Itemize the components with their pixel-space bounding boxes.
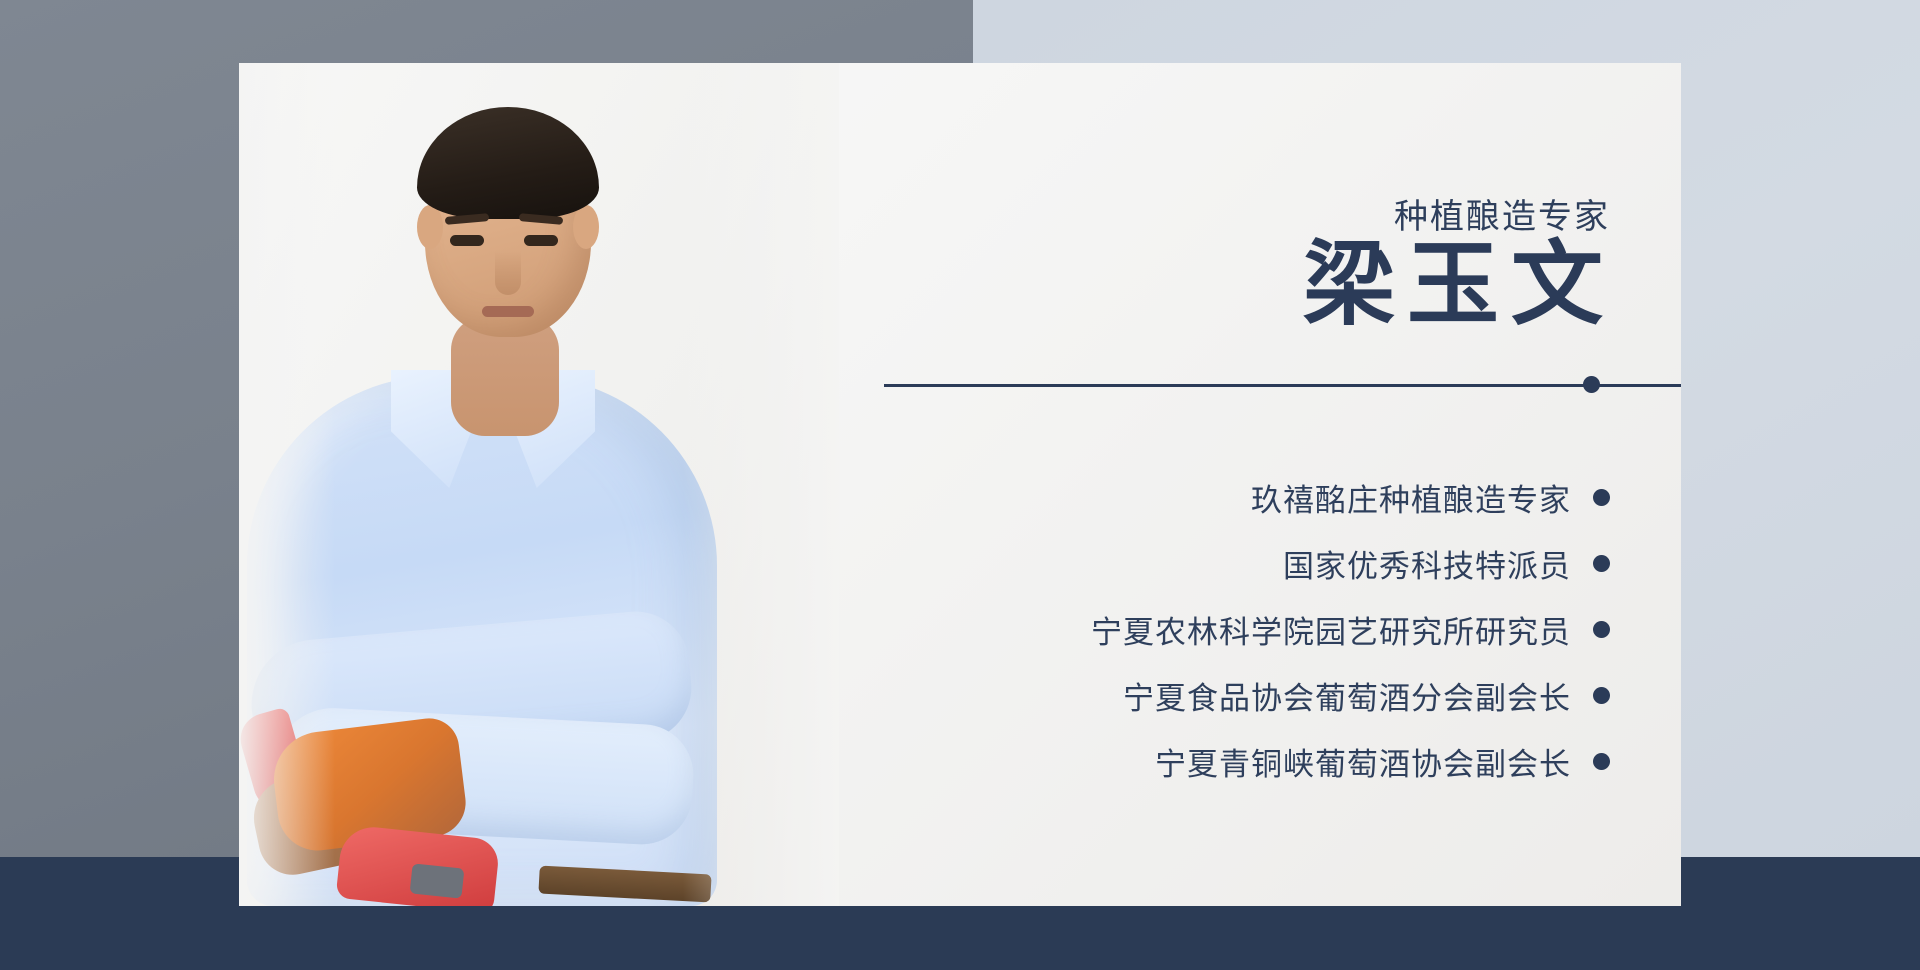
expert-portrait-photo — [239, 63, 839, 906]
pruning-shears-grip — [410, 863, 465, 898]
list-item: 宁夏青铜峡葡萄酒协会副会长 — [890, 739, 1610, 784]
bullet-dot-icon — [1593, 555, 1610, 572]
expert-role-subtitle: 种植酿造专家 — [1394, 189, 1610, 238]
bullet-dot-icon — [1593, 753, 1610, 770]
portrait-eye-right — [524, 235, 558, 246]
credential-label: 玖禧酩庄种植酿造专家 — [1251, 475, 1571, 520]
portrait-eye-left — [450, 235, 484, 246]
divider-rule — [884, 384, 1681, 387]
portrait-nose — [495, 251, 521, 295]
list-item: 玖禧酩庄种植酿造专家 — [890, 475, 1610, 520]
profile-card: 种植酿造专家 梁玉文 玖禧酩庄种植酿造专家 国家优秀科技特派员 宁夏农林科学院园… — [239, 63, 1681, 906]
credential-label: 宁夏青铜峡葡萄酒协会副会长 — [1155, 739, 1571, 784]
list-item: 宁夏食品协会葡萄酒分会副会长 — [890, 673, 1610, 718]
portrait-ear-right — [573, 205, 599, 249]
credential-label: 宁夏食品协会葡萄酒分会副会长 — [1123, 673, 1571, 718]
credential-label: 国家优秀科技特派员 — [1283, 541, 1571, 586]
expert-profile-banner: 种植酿造专家 梁玉文 玖禧酩庄种植酿造专家 国家优秀科技特派员 宁夏农林科学院园… — [0, 0, 1920, 970]
divider-end-dot — [1583, 376, 1600, 393]
portrait-mouth — [482, 306, 534, 317]
bullet-dot-icon — [1593, 489, 1610, 506]
credential-label: 宁夏农林科学院园艺研究所研究员 — [1091, 607, 1571, 652]
list-item: 宁夏农林科学院园艺研究所研究员 — [890, 607, 1610, 652]
portrait-ear-left — [417, 205, 443, 249]
expert-name: 梁玉文 — [1291, 235, 1615, 336]
bullet-dot-icon — [1593, 621, 1610, 638]
profile-info-column: 种植酿造专家 梁玉文 玖禧酩庄种植酿造专家 国家优秀科技特派员 宁夏农林科学院园… — [879, 63, 1681, 906]
bullet-dot-icon — [1593, 687, 1610, 704]
credentials-list: 玖禧酩庄种植酿造专家 国家优秀科技特派员 宁夏农林科学院园艺研究所研究员 宁夏食… — [890, 475, 1610, 784]
section-divider — [884, 383, 1681, 387]
list-item: 国家优秀科技特派员 — [890, 541, 1610, 586]
